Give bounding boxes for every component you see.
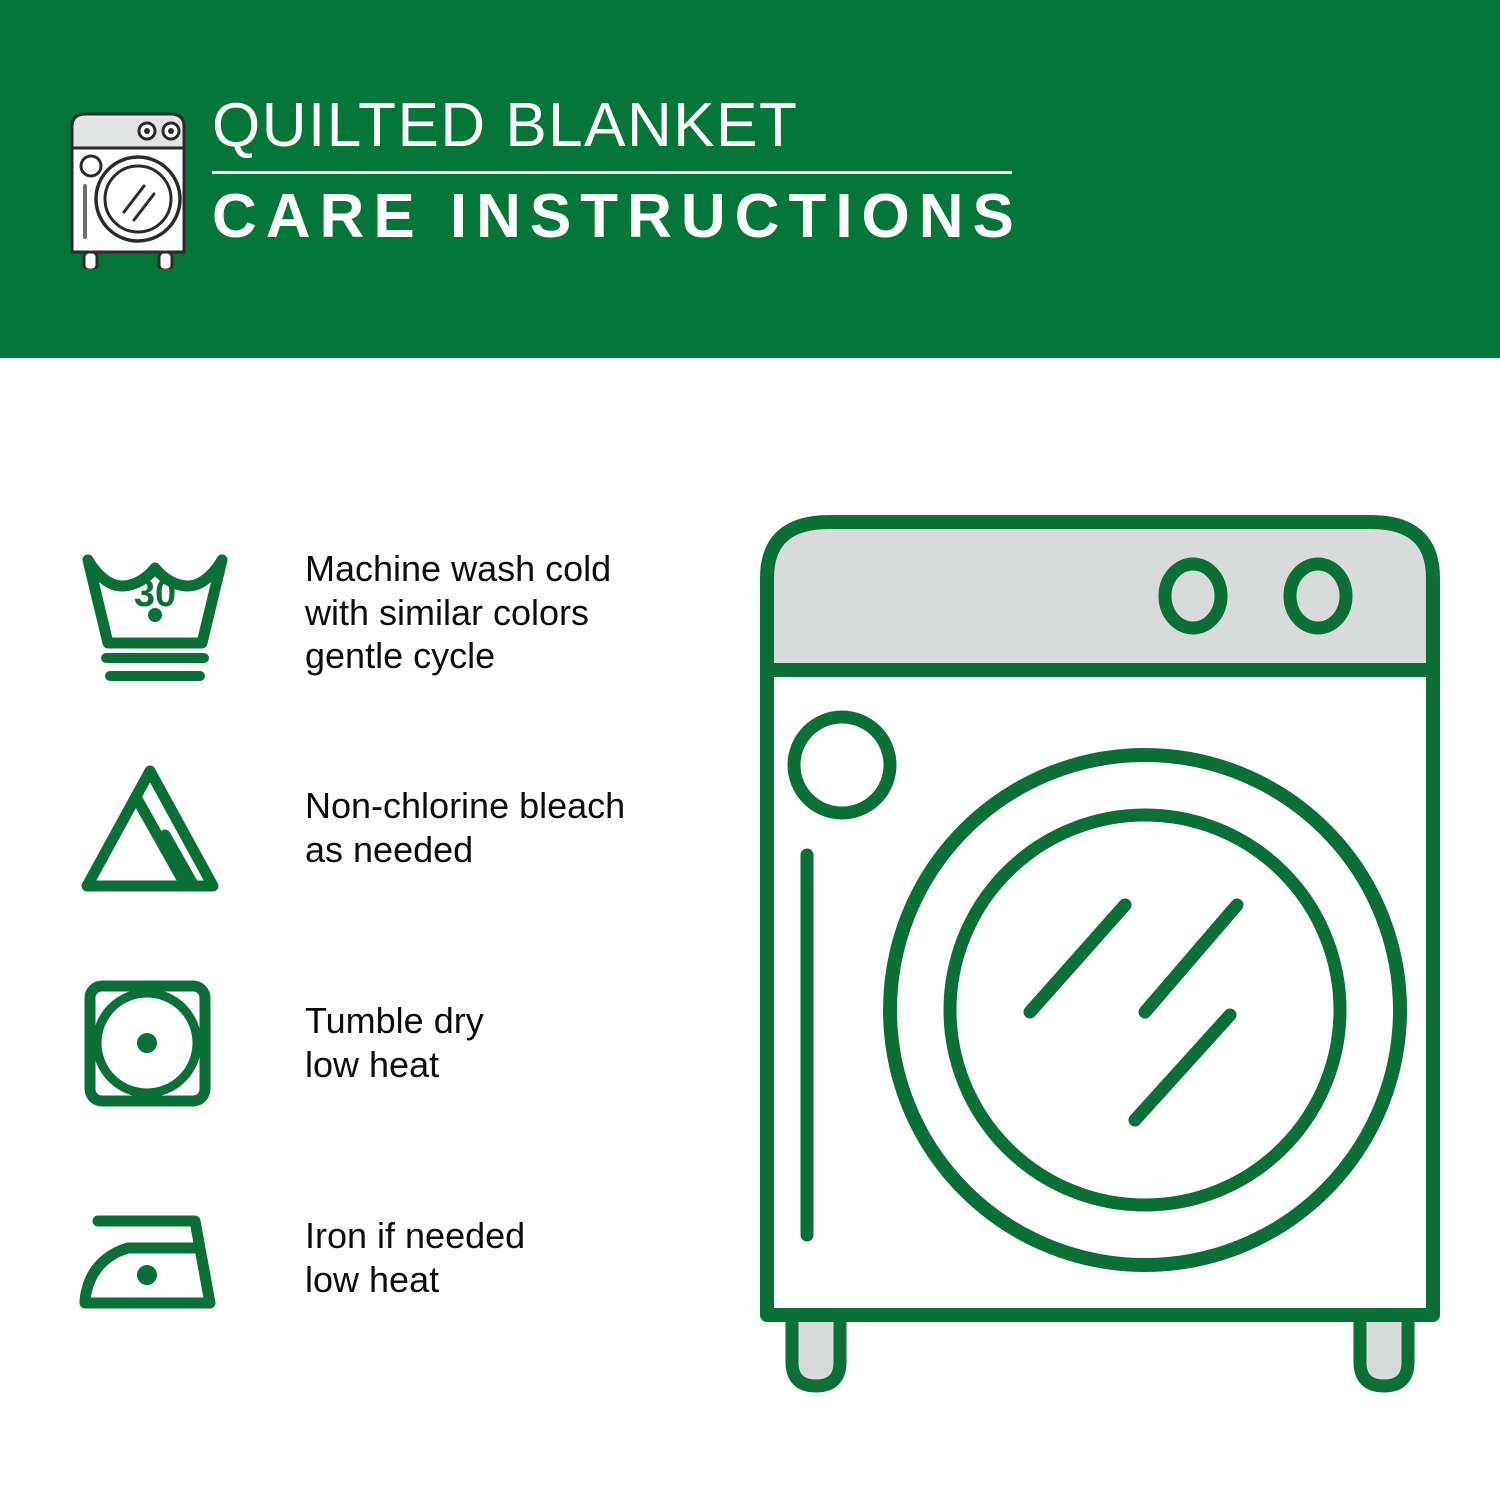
care-label-iron: Iron if needed low heat [305, 1214, 525, 1302]
care-label-wash: Machine wash cold with similar colors ge… [305, 547, 611, 679]
header-divider [212, 171, 1012, 174]
iron-low-heat-icon [70, 1183, 240, 1333]
care-instruction-list: 30 Machine wash cold with similar colors… [70, 505, 730, 1365]
care-label-bleach: Non-chlorine bleach as needed [305, 784, 625, 872]
care-row-bleach: Non-chlorine bleach as needed [70, 720, 730, 935]
page-title: QUILTED BLANKET [212, 95, 1022, 157]
leg-right [1360, 1312, 1408, 1386]
control-panel [767, 522, 1433, 670]
wash-tub-30-gentle-icon: 30 [70, 538, 240, 688]
care-row-iron: Iron if needed low heat [70, 1150, 730, 1365]
leg-left [792, 1312, 840, 1386]
washing-machine-icon [62, 104, 202, 269]
non-chlorine-bleach-triangle-icon [70, 753, 240, 903]
care-row-tumble-dry: Tumble dry low heat [70, 935, 730, 1150]
header-text-block: QUILTED BLANKET CARE INSTRUCTIONS [212, 95, 1022, 249]
page-subtitle: CARE INSTRUCTIONS [212, 184, 1022, 249]
care-label-tumble-dry: Tumble dry low heat [305, 999, 484, 1087]
header-band: QUILTED BLANKET CARE INSTRUCTIONS [0, 0, 1500, 358]
front-load-washing-machine-illustration [745, 500, 1455, 1420]
tumble-dry-low-heat-icon [70, 968, 240, 1118]
care-row-wash: 30 Machine wash cold with similar colors… [70, 505, 730, 720]
